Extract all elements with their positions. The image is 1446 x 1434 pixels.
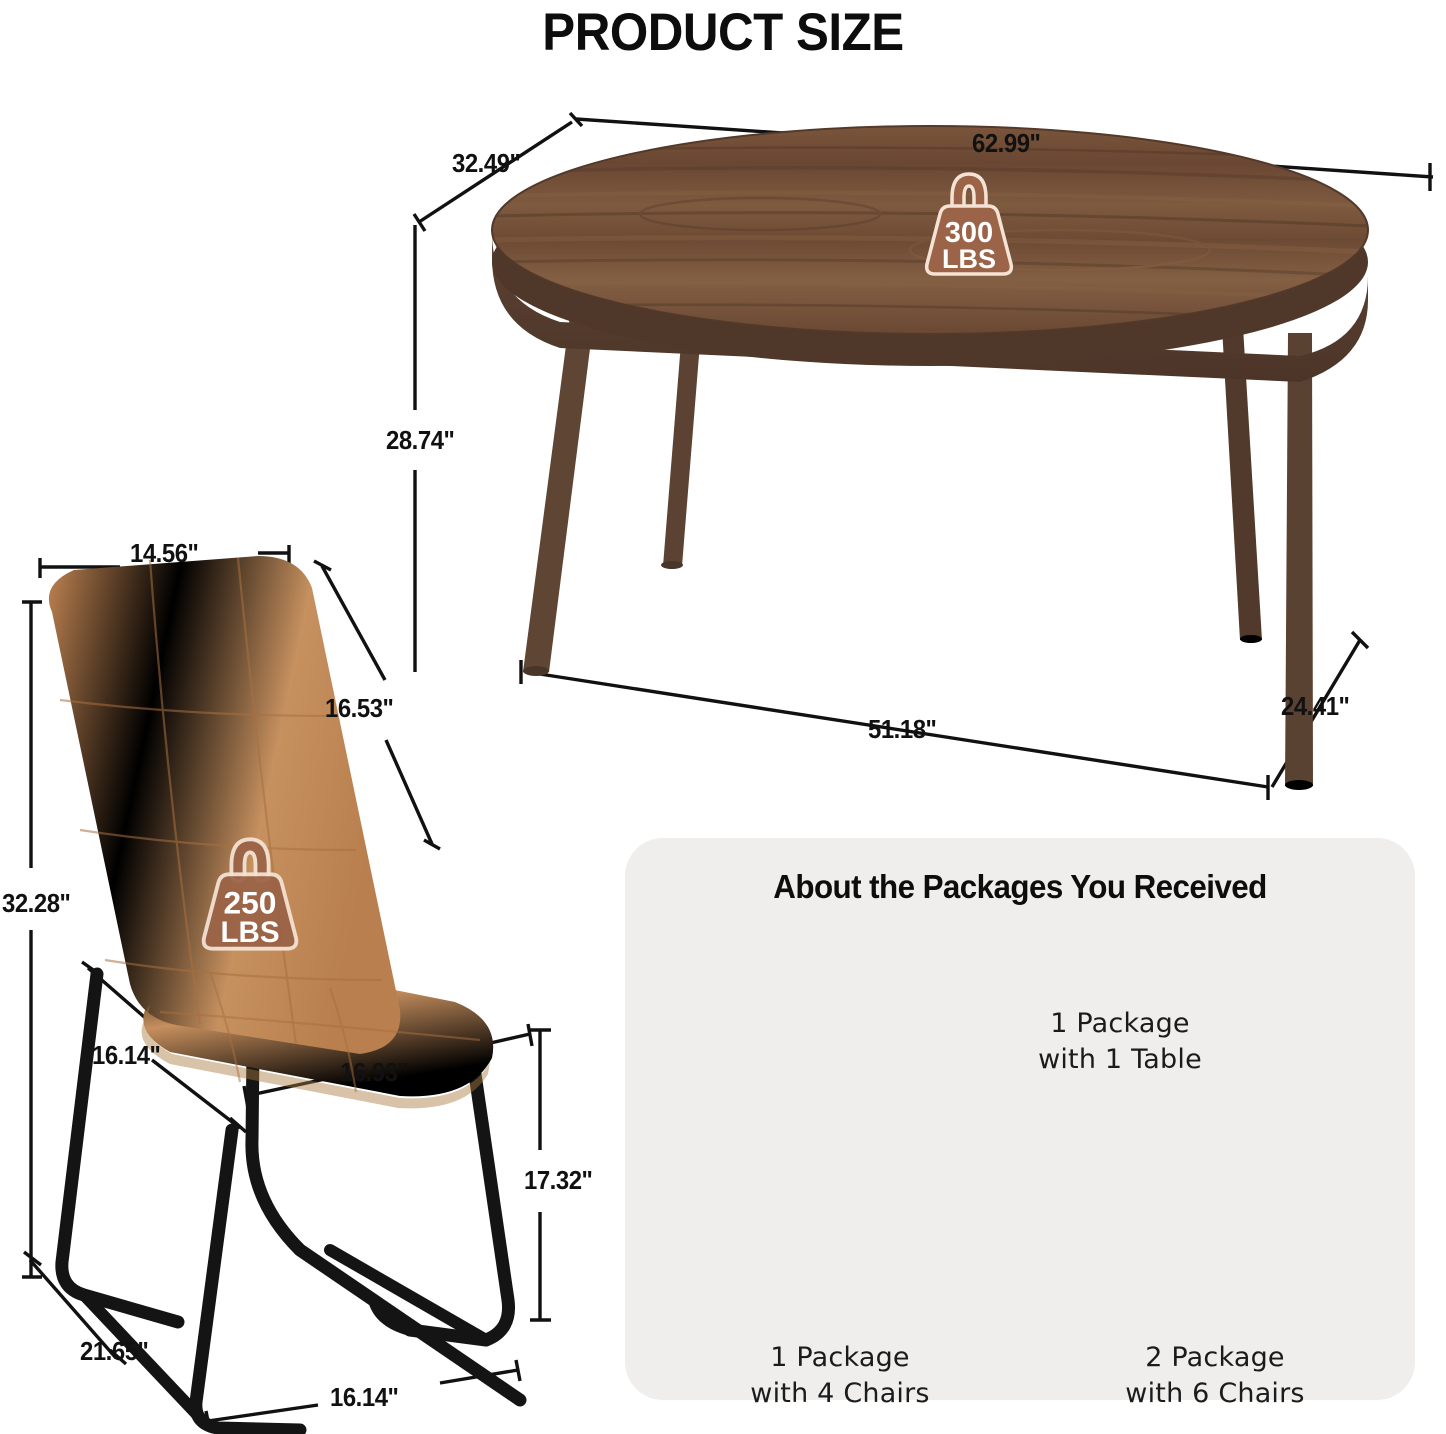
dimension-table-length: 62.99" bbox=[972, 128, 1040, 159]
package-caption-table: 1 Package with 1 Table bbox=[960, 1006, 1280, 1077]
dimension-chair-seat-depth: 16.14" bbox=[92, 1040, 160, 1071]
package-caption-line1: 2 Package bbox=[1065, 1340, 1365, 1376]
dimension-table-height: 28.74" bbox=[386, 425, 454, 456]
table-badge-unit: LBS bbox=[942, 244, 996, 274]
table-weight-badge: 300 LBS bbox=[916, 168, 1022, 285]
dimension-chair-seat-height: 17.32" bbox=[524, 1165, 592, 1196]
packages-heading: About the Packages You Received bbox=[645, 868, 1396, 906]
dimension-chair-seat-width: 16.93" bbox=[340, 1057, 408, 1088]
dimension-chair-total-height: 32.28" bbox=[2, 888, 70, 919]
package-caption-line2: with 4 Chairs bbox=[690, 1376, 990, 1412]
dimension-table-leg-span: 51.18" bbox=[868, 714, 936, 745]
dimension-chair-base-width: 16.14" bbox=[330, 1382, 398, 1413]
packages-panel bbox=[625, 838, 1415, 1400]
chair-illustration bbox=[49, 556, 520, 1430]
package-caption-line1: 1 Package bbox=[960, 1006, 1280, 1042]
dimension-table-depth: 32.49" bbox=[452, 148, 520, 179]
dimension-chair-back-height: 16.53" bbox=[325, 693, 393, 724]
package-caption-line1: 1 Package bbox=[690, 1340, 990, 1376]
package-caption-line2: with 6 Chairs bbox=[1065, 1376, 1365, 1412]
dimension-chair-sled-depth: 21.65" bbox=[80, 1336, 148, 1367]
package-caption-6chairs: 2 Package with 6 Chairs bbox=[1065, 1340, 1365, 1411]
chair-badge-unit: LBS bbox=[220, 916, 279, 949]
package-caption-4chairs: 1 Package with 4 Chairs bbox=[690, 1340, 990, 1411]
chair-weight-badge: 250 LBS bbox=[192, 832, 308, 961]
dimension-table-base-depth: 24.41" bbox=[1281, 691, 1349, 722]
package-caption-line2: with 1 Table bbox=[960, 1042, 1280, 1078]
dimension-chair-back-width: 14.56" bbox=[130, 538, 198, 569]
